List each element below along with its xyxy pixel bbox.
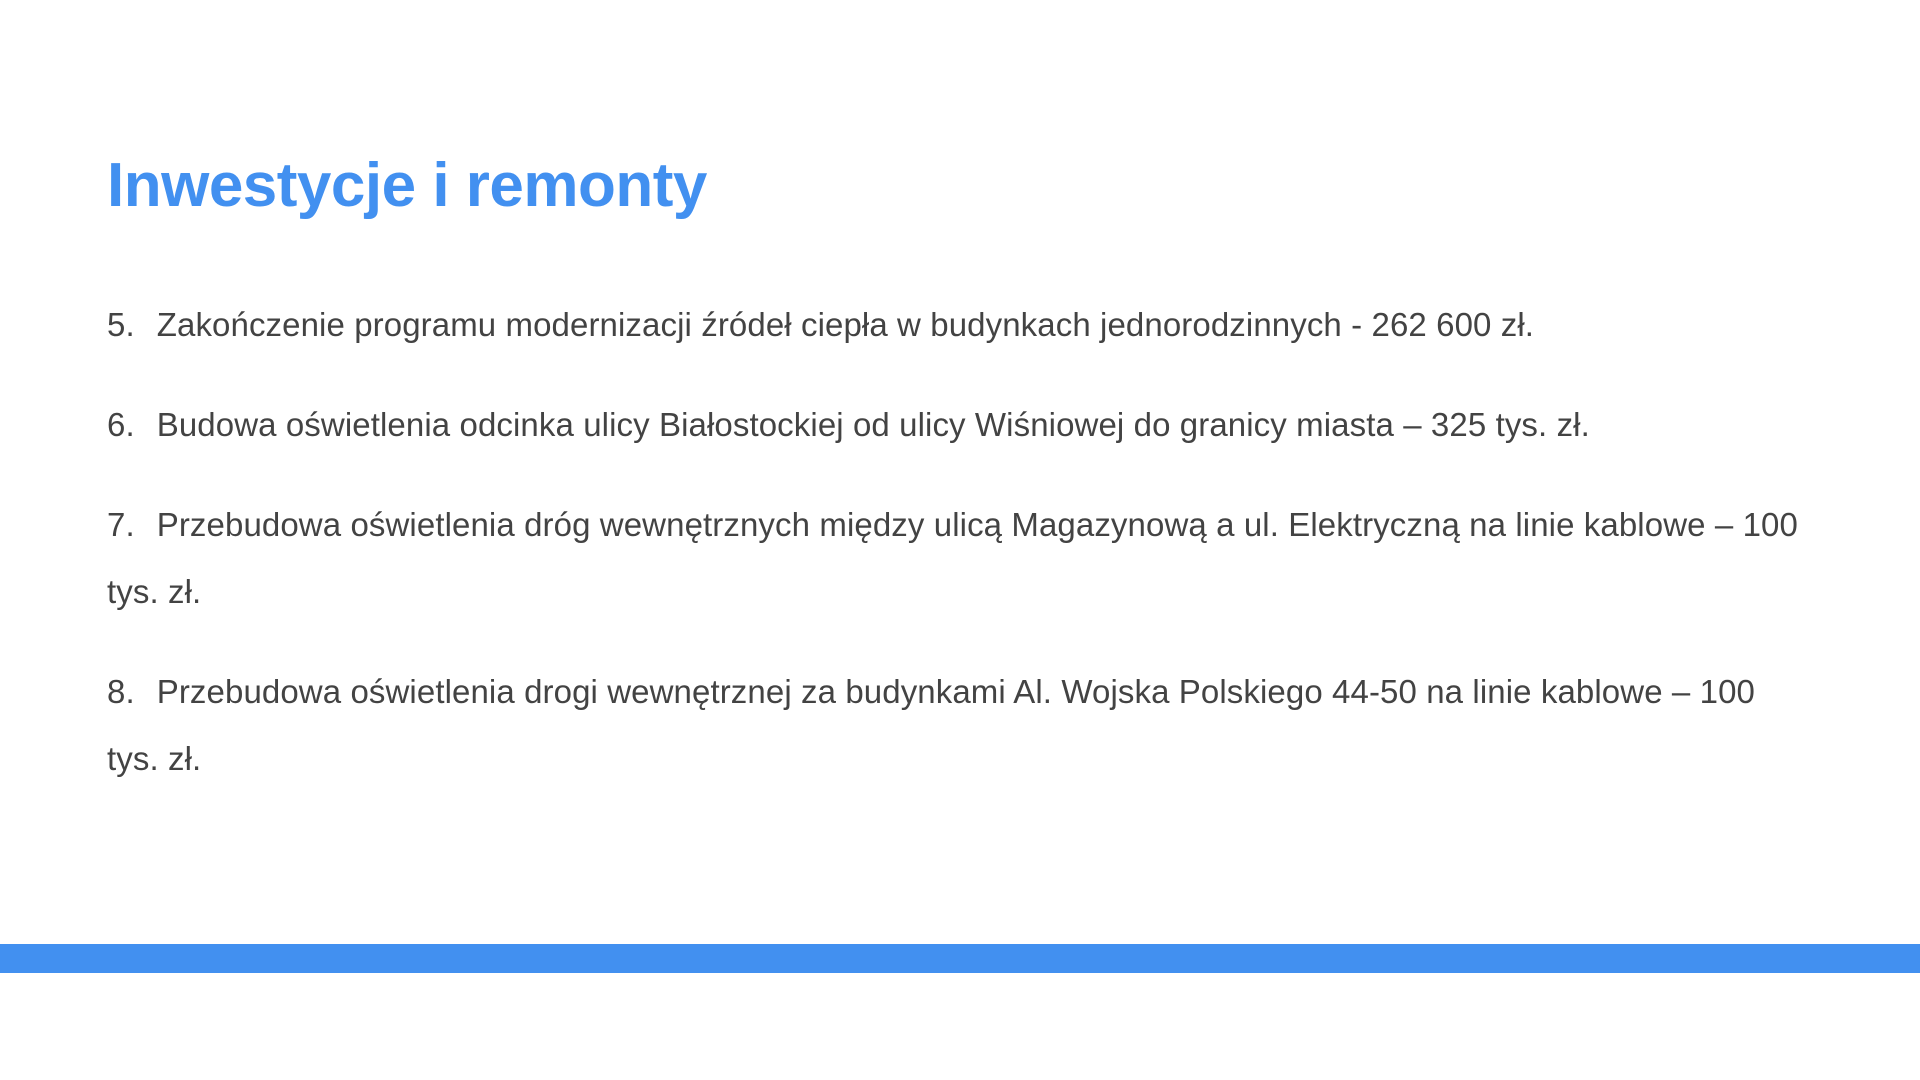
bottom-accent-bar (0, 944, 1920, 973)
list-item-marker: 6. (107, 406, 135, 443)
list-item: 6.Budowa oświetlenia odcinka ulicy Biało… (107, 391, 1807, 458)
list-item-text: Budowa oświetlenia odcinka ulicy Białost… (157, 406, 1590, 443)
list-item-marker: 8. (107, 673, 135, 710)
list-item-marker: 7. (107, 506, 135, 543)
presentation-slide: Inwestycje i remonty 5.Zakończenie progr… (0, 0, 1920, 1080)
page-title: Inwestycje i remonty (107, 150, 1807, 221)
list-item-text: Zakończenie programu modernizacji źródeł… (157, 306, 1534, 343)
list-item-text: Przebudowa oświetlenia drogi wewnętrznej… (107, 673, 1755, 777)
list-item: 8.Przebudowa oświetlenia drogi wewnętrzn… (107, 658, 1807, 792)
list-item: 7.Przebudowa oświetlenia dróg wewnętrzny… (107, 491, 1807, 625)
list-item-marker: 5. (107, 306, 135, 343)
numbered-list: 5.Zakończenie programu modernizacji źród… (107, 258, 1807, 825)
list-item: 5.Zakończenie programu modernizacji źród… (107, 291, 1807, 358)
list-item-text: Przebudowa oświetlenia dróg wewnętrznych… (107, 506, 1798, 610)
